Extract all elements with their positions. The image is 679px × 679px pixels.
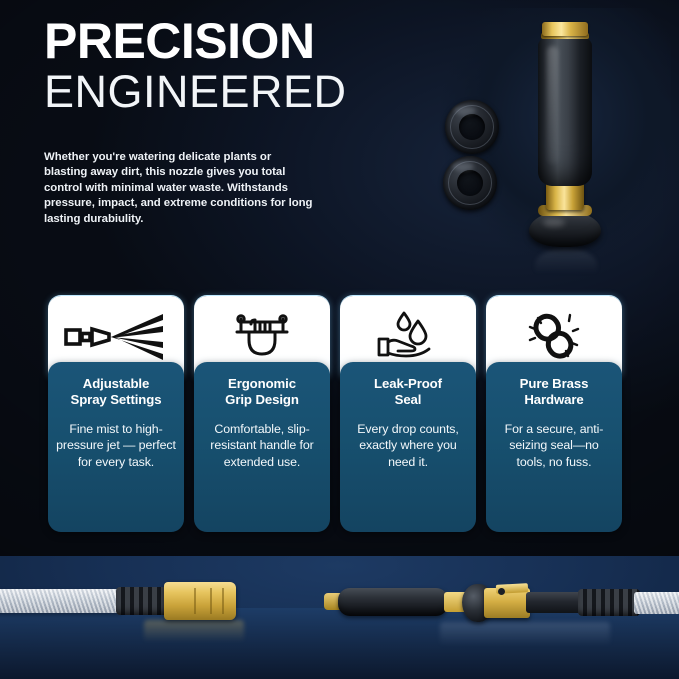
oring-highlight (452, 162, 474, 171)
headline-block: PRECISION ENGINEERED (44, 16, 464, 116)
feature-card-title-line1: Ergonomic (228, 376, 296, 391)
nozzle-base (529, 211, 601, 247)
nozzle-gloss-highlight (547, 46, 558, 164)
feature-card-body: Adjustable Spray Settings Fine mist to h… (48, 362, 184, 532)
feature-card-title-line1: Adjustable (83, 376, 149, 391)
hose-ribbed-collar-right (578, 589, 640, 616)
feature-card-title: Adjustable Spray Settings (56, 376, 176, 407)
valve-screw (498, 588, 505, 595)
nozzle-valve-hose-image (320, 578, 679, 624)
oring-washer-icon (445, 100, 499, 154)
feature-card-body: Pure Brass Hardware For a secure, anti-s… (486, 362, 622, 532)
feature-card[interactable]: Ergonomic Grip Design Comfortable, slip-… (194, 296, 330, 532)
feature-card-title-line2: Grip Design (225, 392, 299, 407)
brass-groove (194, 588, 196, 614)
spray-nozzle-icon (48, 312, 184, 362)
feature-card-list: Adjustable Spray Settings Fine mist to h… (48, 296, 632, 532)
hose-left-reflection (144, 620, 244, 646)
feature-card-title: Leak-Proof Seal (348, 376, 468, 407)
feature-card-description: Every drop counts, exactly where you nee… (348, 421, 468, 470)
hose-ribbed-collar-left (116, 587, 168, 615)
feature-card[interactable]: Pure Brass Hardware For a secure, anti-s… (486, 296, 622, 532)
feature-card-title: Pure Brass Hardware (494, 376, 614, 407)
hose-shaft-right (526, 592, 584, 613)
feature-card-title-line2: Hardware (524, 392, 583, 407)
feature-card-description: Fine mist to high-pressure jet — perfect… (56, 421, 176, 470)
headline-precision: PRECISION (44, 16, 464, 66)
feature-card-description: Comfortable, slip-resistant handle for e… (202, 421, 322, 470)
oring-hole (459, 114, 485, 140)
feature-card-title-line1: Leak-Proof (374, 376, 442, 391)
brass-groove (210, 588, 212, 614)
headline-engineered: ENGINEERED (44, 68, 464, 116)
braided-hose-right (634, 592, 679, 614)
feature-card-description: For a secure, anti-seizing seal—no tools… (494, 421, 614, 470)
product-photo (421, 8, 671, 270)
nozzle-reflection (535, 248, 597, 282)
oring-hole (457, 170, 483, 196)
braided-hose-left (0, 589, 122, 613)
feature-card-title: Ergonomic Grip Design (202, 376, 322, 407)
hand-grip-icon (194, 310, 330, 364)
hose-right-reflection (440, 622, 610, 650)
bottom-photo-band (0, 556, 679, 679)
brass-groove (222, 588, 224, 614)
feature-card-body: Leak-Proof Seal Every drop counts, exact… (340, 362, 476, 532)
infographic-canvas: PRECISION ENGINEERED Whether you're wate… (0, 0, 679, 679)
feature-card-title-line2: Spray Settings (71, 392, 162, 407)
brass-connector-left (164, 582, 236, 620)
oring-washer-icon (443, 156, 497, 210)
nozzle-brass-cap (542, 22, 588, 36)
nozzle-base-highlight (543, 218, 565, 227)
feature-card[interactable]: Adjustable Spray Settings Fine mist to h… (48, 296, 184, 532)
feature-card-body: Ergonomic Grip Design Comfortable, slip-… (194, 362, 330, 532)
nozzle-product-image (529, 22, 601, 238)
hose-brass-fitting-image (0, 582, 284, 620)
nozzle-rubber-grip-right (338, 588, 448, 616)
feature-card-title-line1: Pure Brass (520, 376, 589, 391)
chain-links-icon (486, 309, 622, 365)
feature-card-title-line2: Seal (395, 392, 422, 407)
hero-body-copy: Whether you're watering delicate plants … (44, 150, 316, 227)
oring-highlight (454, 106, 476, 115)
hand-water-drops-icon (340, 309, 476, 365)
feature-card[interactable]: Leak-Proof Seal Every drop counts, exact… (340, 296, 476, 532)
